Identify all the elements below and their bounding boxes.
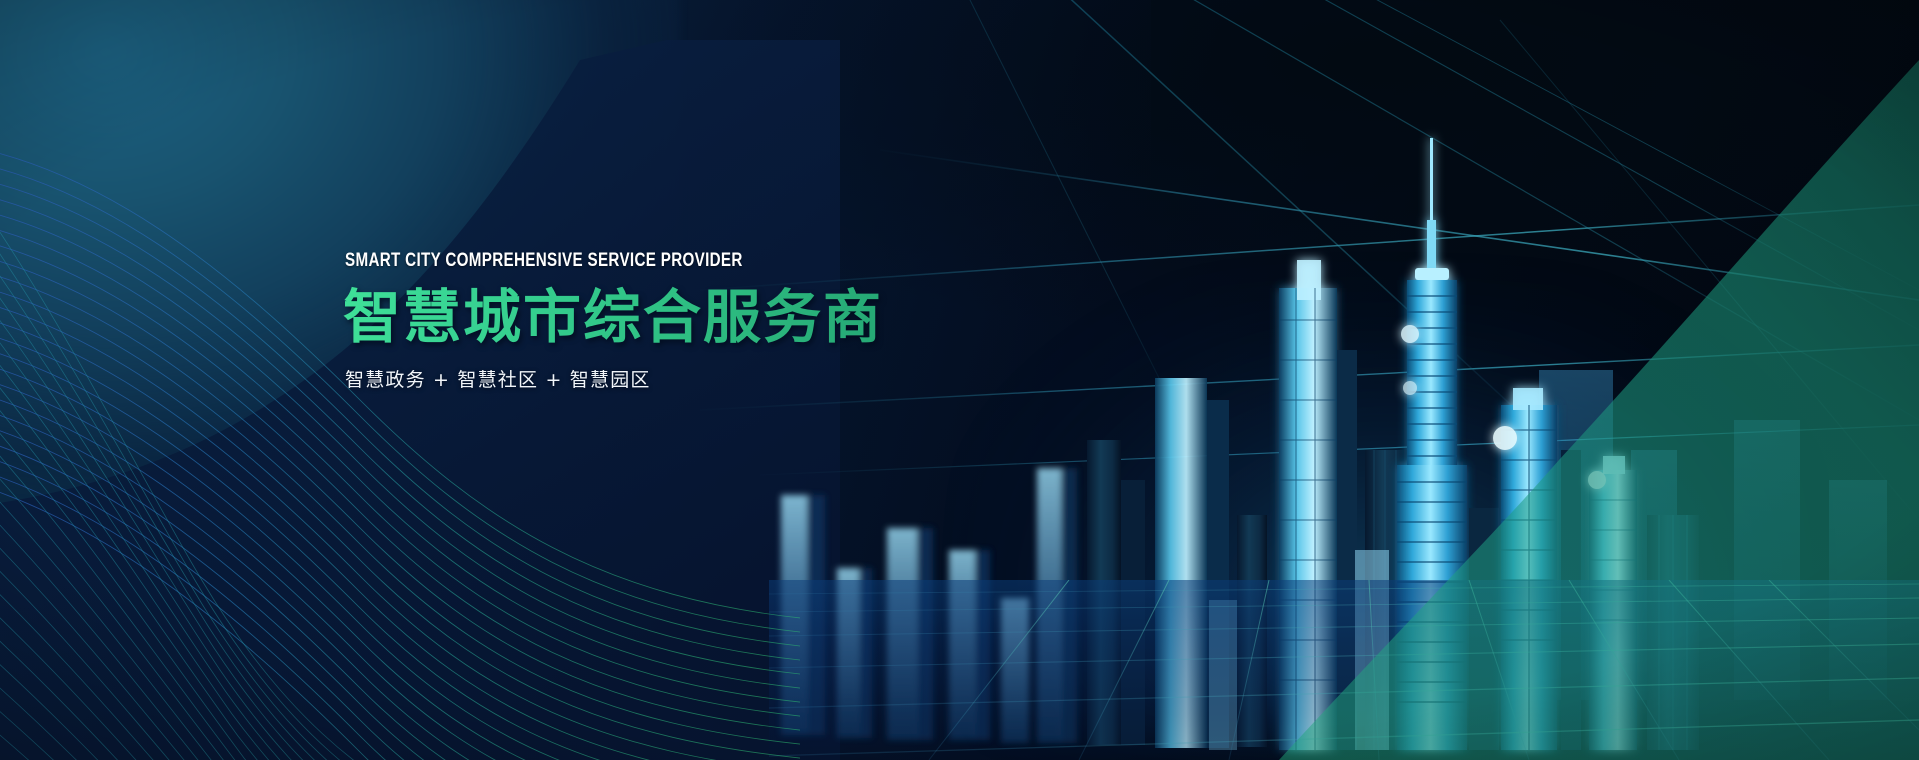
page-title: 智慧城市综合服务商 [343,286,883,349]
ground-plane [769,580,1919,760]
hero-eyebrow: SMART CITY COMPREHENSIVE SERVICE PROVIDE… [345,250,775,272]
ground-grid [769,580,1919,760]
hero-copy: SMART CITY COMPREHENSIVE SERVICE PROVIDE… [343,250,883,392]
hero-banner: SMART CITY COMPREHENSIVE SERVICE PROVIDE… [0,0,1919,760]
hero-subtitle: 智慧政务 + 智慧社区 + 智慧园区 [345,365,883,392]
city-skyline [769,120,1919,760]
